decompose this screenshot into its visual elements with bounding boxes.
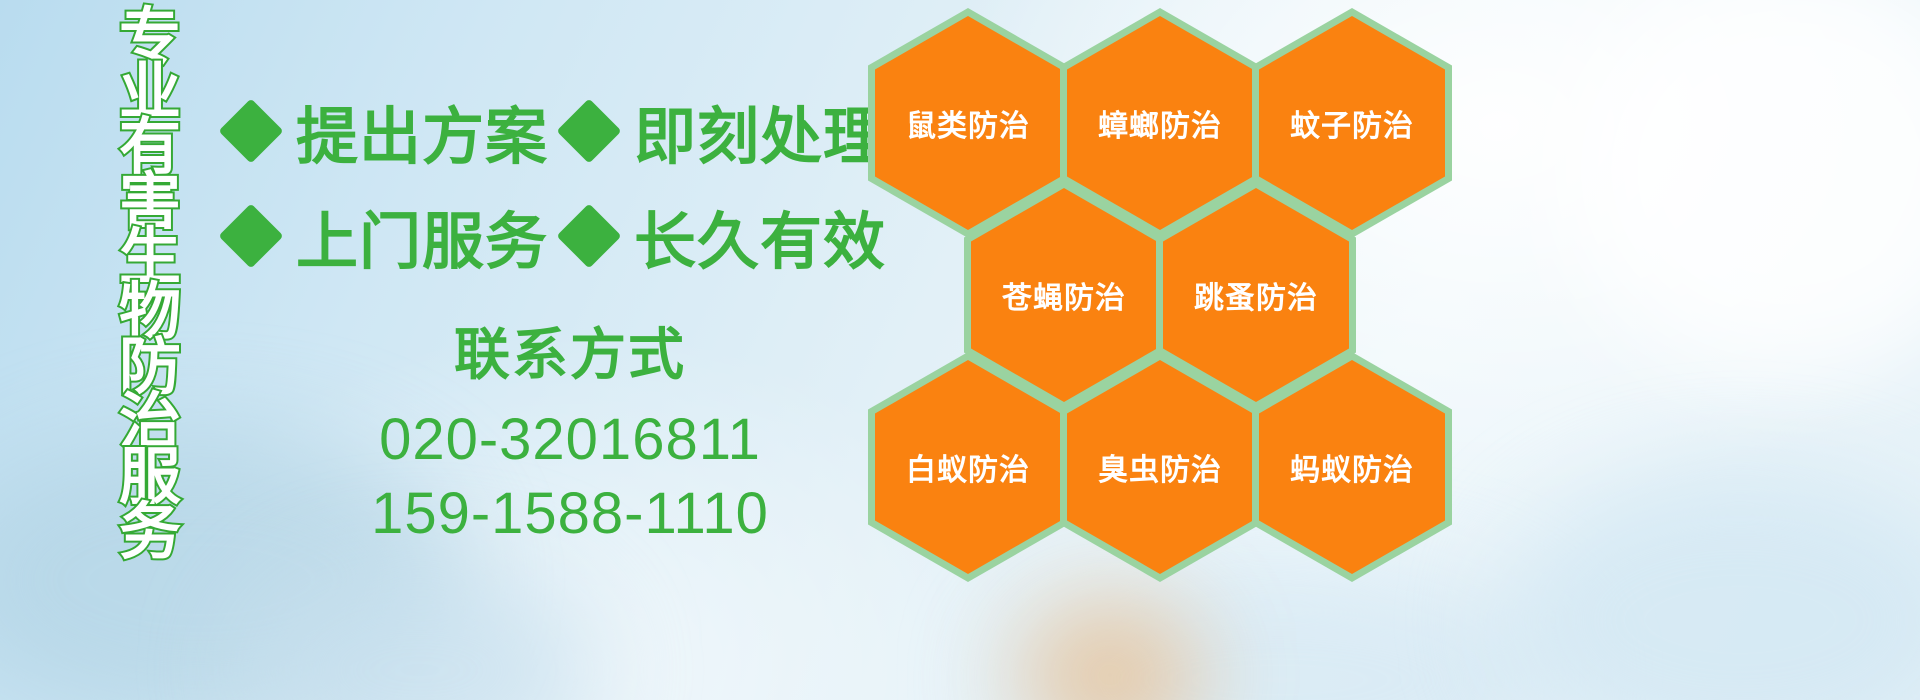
vertical-headline-char: 物: [119, 283, 181, 338]
service-label: 白蚁防治: [906, 445, 1030, 489]
background-blob: [240, 560, 600, 700]
slogan-list: 提出方案 即刻处理 上门服务 长久有效: [228, 78, 868, 288]
hexagon-inner: 蚂蚁防治: [1259, 360, 1445, 574]
service-hexagon-grid: 鼠类防治 蟑螂防治 蚊子防治 苍蝇防治 跳蚤防治 白蚁防治: [860, 0, 1480, 700]
diamond-icon: [556, 98, 621, 163]
vertical-headline: 专 业 有 害 生 物 防 治 服 务: [104, 8, 196, 558]
service-label: 蚂蚁防治: [1290, 445, 1414, 489]
background-blob: [1500, 470, 1920, 700]
background-blob: [1560, 0, 1920, 380]
phone-number-mobile[interactable]: 159-1588-1110: [300, 477, 840, 551]
contact-block: 联系方式 020-32016811 159-1588-1110: [300, 310, 840, 551]
service-label: 鼠类防治: [906, 101, 1030, 145]
service-label: 苍蝇防治: [1002, 273, 1126, 317]
contact-title: 联系方式: [300, 310, 840, 391]
service-label: 臭虫防治: [1098, 445, 1222, 489]
promo-banner: 专 业 有 害 生 物 防 治 服 务 提出方案 即刻处理 上门服务 长久有效 …: [0, 0, 1920, 700]
vertical-headline-char: 专: [119, 8, 181, 63]
slogan-text: 提出方案: [296, 86, 548, 176]
slogan-text: 上门服务: [296, 191, 548, 281]
vertical-headline-char: 治: [119, 393, 181, 448]
vertical-headline-char: 生: [119, 228, 181, 283]
slogan-row: 提出方案 即刻处理: [228, 78, 868, 183]
service-label: 蟑螂防治: [1098, 101, 1222, 145]
slogan-text: 即刻处理: [634, 86, 886, 176]
slogan-text: 长久有效: [634, 191, 886, 281]
diamond-icon: [218, 203, 283, 268]
vertical-headline-char: 防: [119, 338, 181, 393]
vertical-headline-char: 害: [119, 173, 181, 228]
vertical-headline-char: 务: [119, 503, 181, 558]
diamond-icon: [556, 203, 621, 268]
phone-number-landline[interactable]: 020-32016811: [300, 403, 840, 477]
service-label: 跳蚤防治: [1194, 273, 1318, 317]
vertical-headline-char: 服: [119, 448, 181, 503]
service-label: 蚊子防治: [1290, 101, 1414, 145]
diamond-icon: [218, 98, 283, 163]
vertical-headline-char: 有: [119, 118, 181, 173]
vertical-headline-char: 业: [119, 63, 181, 118]
hexagon-inner: 白蚁防治: [875, 360, 1061, 574]
slogan-row: 上门服务 长久有效: [228, 183, 868, 288]
hexagon-inner: 臭虫防治: [1067, 360, 1253, 574]
